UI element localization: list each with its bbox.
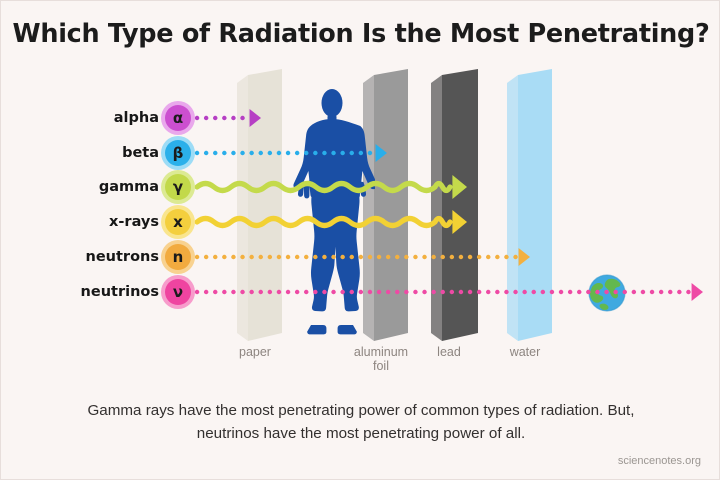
- earth-globe-icon: [587, 273, 627, 313]
- barrier-label-water: water: [489, 346, 561, 360]
- barrier-paper: [237, 69, 282, 341]
- barrier-label-aluminum: aluminumfoil: [341, 346, 421, 373]
- particle-symbol-beta: β: [165, 140, 191, 166]
- radiation-label-column: alphabetagammax-raysneutronsneutrinos: [1, 61, 159, 381]
- source-credit: sciencenotes.org: [618, 455, 701, 467]
- barrier-label-lead: lead: [413, 346, 485, 360]
- radiation-label-xrays: x-rays: [109, 214, 159, 230]
- human-silhouette-icon: [289, 86, 375, 336]
- particle-symbol-neutrons: n: [165, 244, 191, 270]
- radiation-label-alpha: alpha: [114, 110, 159, 126]
- barrier-label-line: paper: [217, 346, 293, 360]
- radiation-label-neutrons: neutrons: [86, 249, 159, 265]
- radiation-label-neutrinos: neutrinos: [81, 284, 159, 300]
- barrier-water: [507, 69, 552, 341]
- particle-symbol-neutrinos: ν: [165, 279, 191, 305]
- particle-symbol-alpha: α: [165, 105, 191, 131]
- particle-symbol-xrays: x: [165, 209, 191, 235]
- radiation-label-gamma: gamma: [99, 179, 159, 195]
- barrier-label-line: aluminum: [341, 346, 421, 360]
- diagram-stage: paperaluminumfoilleadwater: [1, 61, 720, 381]
- caption-text: Gamma rays have the most penetrating pow…: [61, 399, 661, 445]
- barrier-label-line: lead: [413, 346, 485, 360]
- barrier-lead: [431, 69, 478, 341]
- page-title: Which Type of Radiation Is the Most Pene…: [1, 19, 720, 49]
- radiation-penetration-infographic: Which Type of Radiation Is the Most Pene…: [0, 0, 720, 480]
- barrier-label-line: water: [489, 346, 561, 360]
- barrier-label-paper: paper: [217, 346, 293, 360]
- barrier-label-line: foil: [341, 360, 421, 374]
- particle-symbol-gamma: γ: [165, 174, 191, 200]
- radiation-label-beta: beta: [122, 145, 159, 161]
